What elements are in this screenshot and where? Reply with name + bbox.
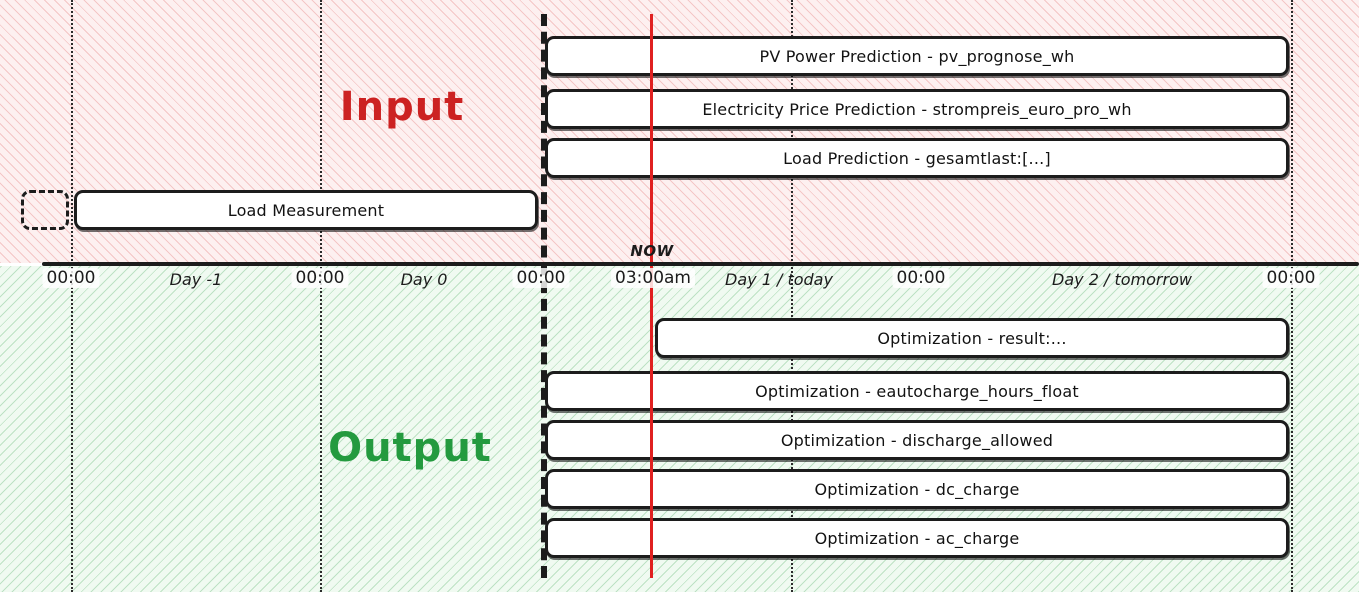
- axis-tick-label-0: 00:00: [43, 268, 100, 288]
- output-bar-result[interactable]: Optimization - result:...: [655, 318, 1289, 358]
- axis-now-time-label: 03:00am: [611, 268, 695, 288]
- day-separator-1: [71, 0, 73, 592]
- input-bar-label: Load Measurement: [228, 201, 385, 220]
- output-bar-label: Optimization - ac_charge: [815, 529, 1020, 548]
- time-axis: [42, 262, 1359, 266]
- output-bar-dc-charge[interactable]: Optimization - dc_charge: [545, 469, 1289, 509]
- now-label: NOW: [630, 242, 673, 260]
- axis-day-label-day-2-tomorrow: Day 2 / tomorrow: [1048, 270, 1196, 289]
- input-bar-load-measurement-overflow: [21, 190, 69, 230]
- output-bar-label: Optimization - discharge_allowed: [781, 431, 1053, 450]
- axis-tick-label-3: 00:00: [893, 268, 950, 288]
- output-bar-label: Optimization - result:...: [877, 329, 1066, 348]
- output-bar-label: Optimization - dc_charge: [814, 480, 1019, 499]
- input-bar-label: Load Prediction - gesamtlast:[...]: [783, 149, 1051, 168]
- day-separator-2: [320, 0, 322, 592]
- now-line: [650, 14, 653, 578]
- input-bar-label: PV Power Prediction - pv_prognose_wh: [759, 47, 1074, 66]
- output-bar-discharge-allowed[interactable]: Optimization - discharge_allowed: [545, 420, 1289, 460]
- input-bar-electricity-price-prediction[interactable]: Electricity Price Prediction - stromprei…: [545, 89, 1289, 129]
- timeline-diagram: NOW Input PV Power Prediction - pv_progn…: [0, 0, 1359, 592]
- axis-tick-label-4: 00:00: [1263, 268, 1320, 288]
- axis-tick-label-2: 00:00: [513, 268, 570, 288]
- output-bar-ac-charge[interactable]: Optimization - ac_charge: [545, 518, 1289, 558]
- input-bar-load-measurement[interactable]: Load Measurement: [74, 190, 538, 230]
- today-boundary-divider: [541, 14, 547, 578]
- axis-day-label-day-0: Day 0: [397, 270, 452, 289]
- output-bar-label: Optimization - eautocharge_hours_float: [755, 382, 1079, 401]
- output-bar-eautocharge-hours-float[interactable]: Optimization - eautocharge_hours_float: [545, 371, 1289, 411]
- input-bar-load-prediction[interactable]: Load Prediction - gesamtlast:[...]: [545, 138, 1289, 178]
- axis-day-label-day-1-today: Day 1 / today: [721, 270, 837, 289]
- input-section-title: Input: [340, 84, 465, 130]
- day-separator-4: [1291, 0, 1293, 592]
- output-section-title: Output: [328, 425, 492, 471]
- input-bar-label: Electricity Price Prediction - stromprei…: [702, 100, 1131, 119]
- axis-day-label-day--1: Day -1: [166, 270, 227, 289]
- input-bar-pv-power-prediction[interactable]: PV Power Prediction - pv_prognose_wh: [545, 36, 1289, 76]
- axis-tick-label-1: 00:00: [292, 268, 349, 288]
